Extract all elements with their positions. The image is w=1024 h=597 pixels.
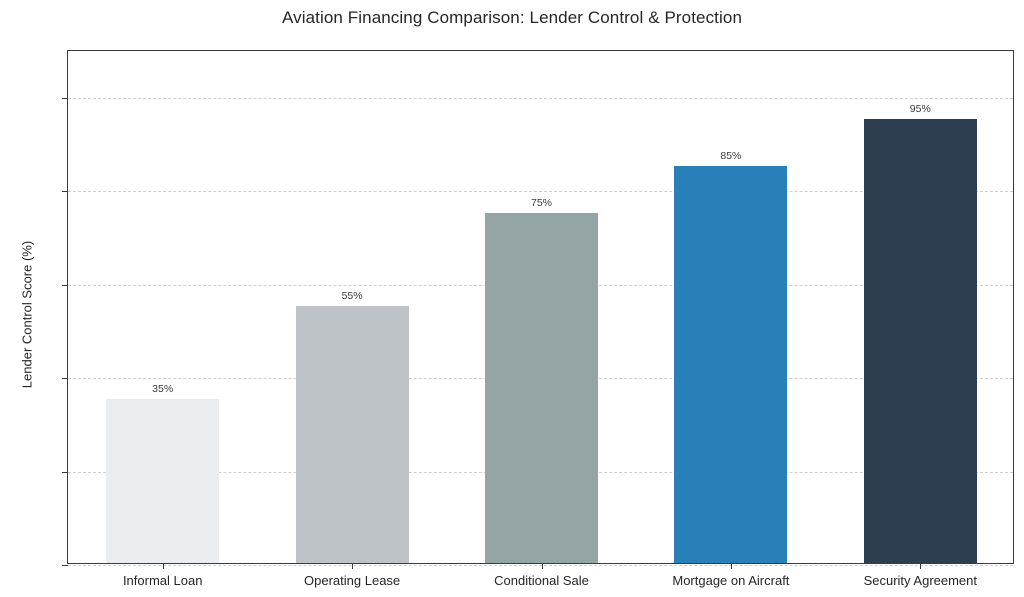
chart-figure: Aviation Financing Comparison: Lender Co… [0, 0, 1024, 597]
y-tick-mark [62, 378, 68, 379]
bar-value-label: 35% [103, 383, 223, 395]
y-tick-mark [62, 285, 68, 286]
bar[interactable] [864, 119, 977, 563]
x-tick-mark [731, 563, 732, 569]
bar-value-label: 55% [292, 290, 412, 302]
gridline [68, 565, 1013, 566]
x-tick-mark [920, 563, 921, 569]
gridline [68, 98, 1013, 99]
x-tick-mark [542, 563, 543, 569]
bar[interactable] [296, 306, 409, 563]
y-tick-mark [62, 472, 68, 473]
bar[interactable] [106, 399, 219, 563]
bar-value-label: 95% [860, 103, 980, 115]
x-tick-mark [163, 563, 164, 569]
bar-value-label: 85% [671, 150, 791, 162]
chart-title: Aviation Financing Comparison: Lender Co… [0, 8, 1024, 28]
bar[interactable] [674, 166, 787, 563]
bar-value-label: 75% [482, 197, 602, 209]
x-tick-label: Security Agreement [805, 573, 1024, 588]
plot-area: 020406080100 35%55%75%85%95% Informal Lo… [67, 50, 1014, 564]
bar[interactable] [485, 213, 598, 563]
y-axis-label: Lender Control Score (%) [20, 195, 35, 435]
y-tick-mark [62, 565, 68, 566]
x-tick-mark [352, 563, 353, 569]
y-tick-mark [62, 191, 68, 192]
y-tick-mark [62, 98, 68, 99]
